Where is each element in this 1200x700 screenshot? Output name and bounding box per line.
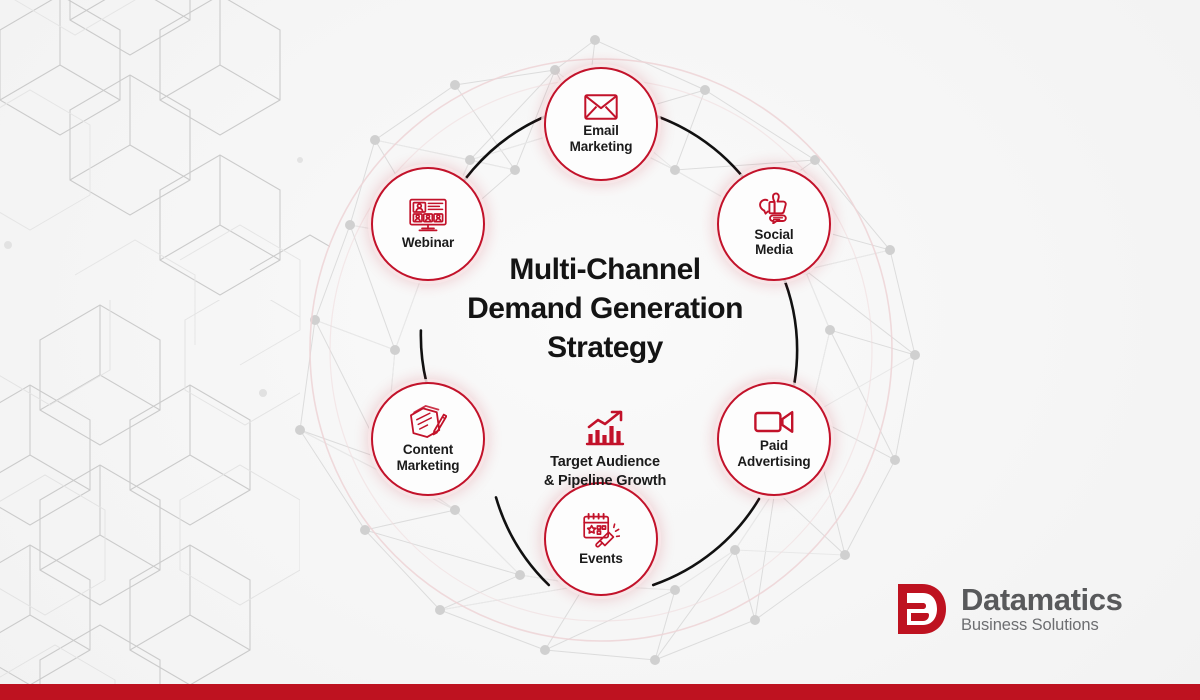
video-camera-icon	[754, 409, 794, 435]
logo-tagline: Business Solutions	[961, 617, 1122, 634]
page-title: Multi-Channel Demand Generation Strategy	[415, 250, 795, 367]
calendar-megaphone-icon	[582, 512, 620, 548]
node-label: Email Marketing	[570, 123, 633, 154]
node-email-marketing[interactable]: Email Marketing	[544, 67, 658, 181]
logo-brand: Datamatics	[961, 584, 1122, 615]
strategy-wheel: Email Marketing Social	[255, 10, 955, 690]
document-pencil-icon	[409, 405, 447, 439]
node-events[interactable]: Events	[544, 482, 658, 596]
node-label: Content Marketing	[397, 442, 460, 473]
webinar-monitor-icon	[408, 198, 448, 232]
logo-wordmark: Datamatics Business Solutions	[961, 584, 1122, 634]
center-subtitle-block: Target Audience & Pipeline Growth	[455, 410, 755, 491]
datamatics-logo: Datamatics Business Solutions	[896, 582, 1122, 636]
node-label: Events	[579, 551, 623, 566]
node-label: Webinar	[402, 235, 454, 250]
bottom-accent-bar	[0, 684, 1200, 700]
datamatics-d-mark-icon	[896, 582, 948, 636]
infographic-canvas: Email Marketing Social	[0, 0, 1200, 700]
growth-chart-icon	[455, 410, 755, 446]
center-subtitle-label: Target Audience & Pipeline Growth	[455, 453, 755, 491]
envelope-icon	[584, 94, 618, 120]
thumbs-up-chat-icon	[756, 191, 792, 224]
